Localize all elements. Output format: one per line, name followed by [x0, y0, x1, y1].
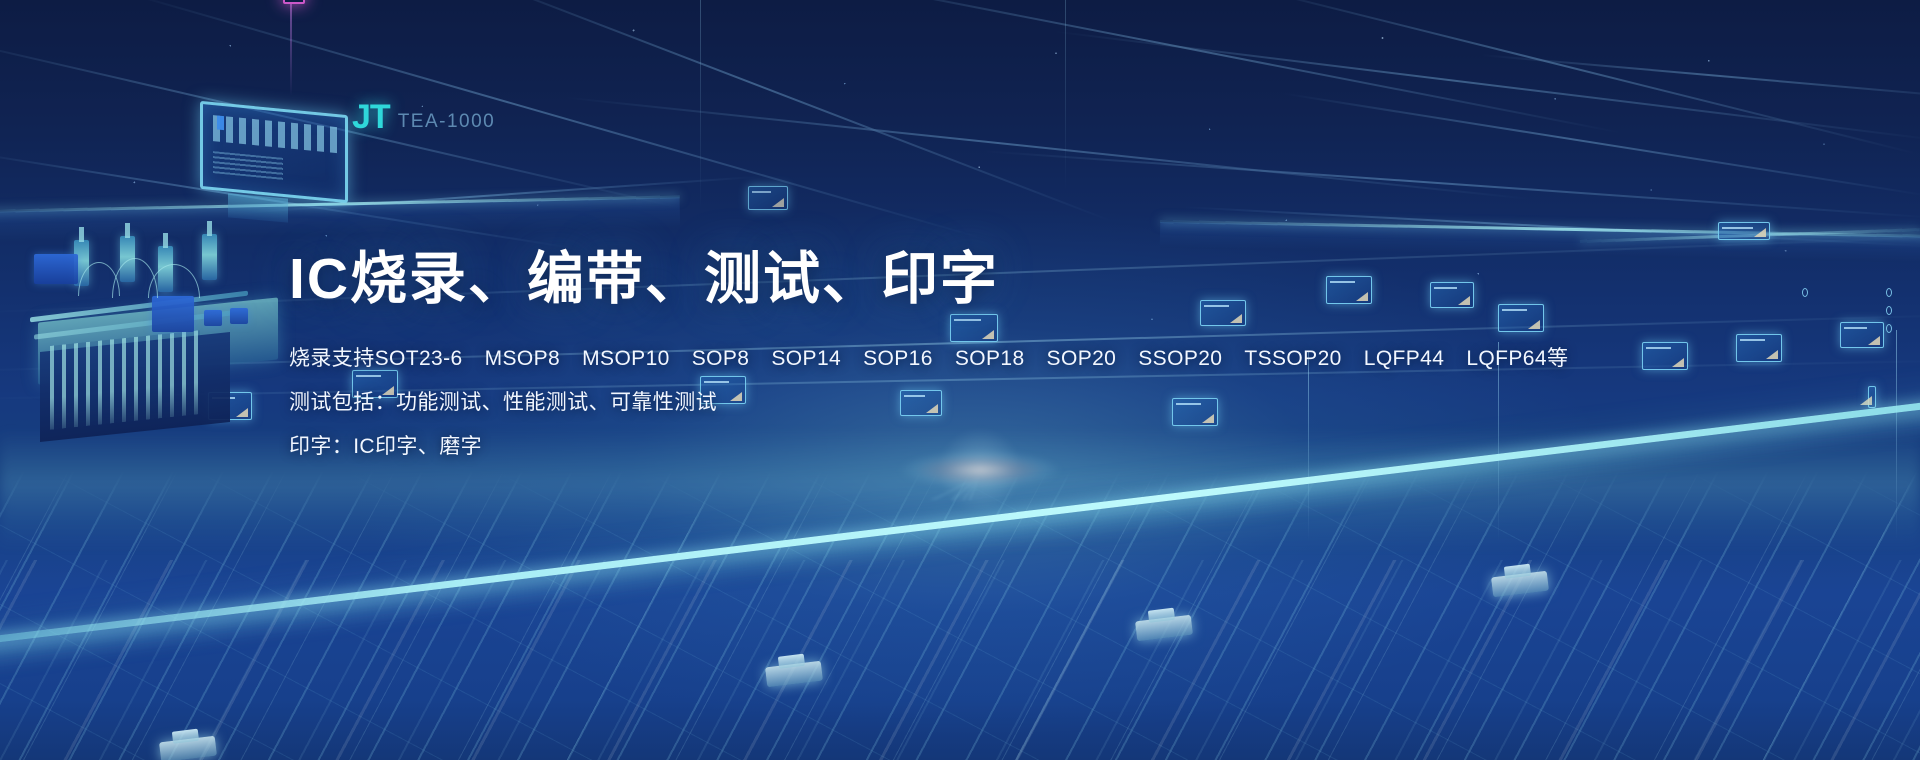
package-item: TSSOP20 — [1244, 348, 1341, 369]
monitor-status-led — [217, 116, 224, 131]
monitor-readout-block — [213, 151, 283, 180]
control-monitor — [200, 101, 348, 203]
machine-cable-3 — [148, 264, 200, 298]
package-item: SOP8 — [692, 348, 750, 369]
machine-clamp-2 — [230, 308, 248, 324]
pneumatic-cylinder-4 — [202, 234, 217, 280]
package-item: SOP16 — [863, 348, 933, 369]
package-item: SOP20 — [1047, 348, 1117, 369]
monitor-readout-row — [213, 115, 337, 153]
package-list: MSOP8MSOP10SOP8SOP14SOP16SOP18SOP20SSOP2… — [485, 348, 1569, 369]
floating-chip-4 — [748, 186, 788, 210]
pillar-4 — [700, 0, 701, 210]
package-item: MSOP8 — [485, 348, 561, 369]
pillar-5 — [1065, 0, 1066, 190]
machine-motor-box — [152, 296, 194, 332]
package-item: LQFP64等 — [1466, 348, 1568, 369]
equipment-brand: JT TEA-1000 — [352, 100, 495, 134]
ceiling-fixture-icon — [283, 0, 305, 4]
subline-burn-support: 烧录支持SOT23-6MSOP8MSOP10SOP8SOP14SOP16SOP1… — [289, 348, 1549, 369]
banner-hero: JT TEA-1000 IC烧录、编带、测试、印字 烧录支持SOT23-6MSO… — [0, 0, 1920, 760]
banner-text-block: IC烧录、编带、测试、印字 烧录支持SOT23-6MSOP8MSOP10SOP8… — [289, 248, 1549, 480]
indicator-led-4 — [1886, 324, 1892, 333]
page-title: IC烧录、编带、测试、印字 — [289, 248, 1549, 312]
indicator-led-2 — [1886, 288, 1892, 297]
package-item: MSOP10 — [582, 348, 670, 369]
package-item: SOP14 — [771, 348, 841, 369]
brand-mark: JT — [352, 100, 390, 134]
circuit-floor-pattern-overlay — [0, 560, 1920, 760]
subline-test-scope: 测试包括：功能测试、性能测试、可靠性测试 — [289, 392, 1549, 413]
machine-heat-fins — [50, 330, 200, 430]
brand-model: TEA-1000 — [398, 112, 496, 134]
burn-support-lead: 烧录支持SOT23-6 — [289, 347, 463, 370]
control-panel-chip-far — [1718, 222, 1770, 240]
subline-marking-scope: 印字：IC印字、磨字 — [289, 436, 1549, 457]
ceiling-light-beam — [290, 4, 292, 96]
monitor-stand — [228, 193, 288, 222]
tower-light — [1868, 386, 1876, 408]
indicator-led-3 — [1886, 306, 1892, 315]
floating-chip-12 — [1642, 342, 1688, 370]
package-item: LQFP44 — [1364, 348, 1445, 369]
package-item: SOP18 — [955, 348, 1025, 369]
floating-chip-13 — [1736, 334, 1782, 362]
burn-in-machine — [16, 218, 294, 418]
package-item: SSOP20 — [1138, 348, 1222, 369]
machine-control-box — [34, 254, 78, 284]
machine-clamp-1 — [204, 310, 222, 326]
floating-chip-14 — [1840, 322, 1884, 348]
indicator-led-1 — [1802, 288, 1808, 297]
